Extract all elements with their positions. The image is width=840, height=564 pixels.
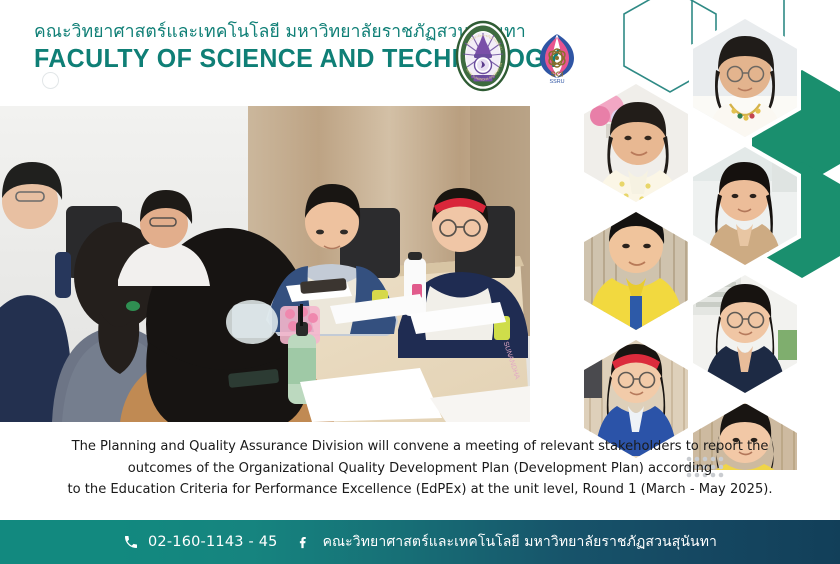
main-meeting-photo: SUAN SUNANDHA bbox=[0, 106, 530, 422]
sci-ssru-logo-icon: SCI SSRU bbox=[531, 30, 583, 88]
description-line-1: The Planning and Quality Assurance Divis… bbox=[18, 436, 822, 458]
phone-number[interactable]: 02-160-1143 - 45 bbox=[148, 534, 278, 550]
description-line-2: outcomes of the Organizational Quality D… bbox=[18, 458, 822, 480]
facebook-icon[interactable] bbox=[296, 534, 311, 551]
phone-icon bbox=[123, 534, 139, 550]
hex-tile-portrait-man-yellow-polo bbox=[580, 207, 692, 335]
hex-tile-portrait-woman-navy-glasses bbox=[689, 270, 801, 398]
facebook-page-name[interactable]: คณะวิทยาศาสตร์และเทคโนโลยี มหาวิทยาลัยรา… bbox=[323, 531, 717, 553]
svg-text:SCI: SCI bbox=[551, 70, 564, 79]
poster-canvas: คณะวิทยาศาสตร์และเทคโนโลยี มหาวิทยาลัยรา… bbox=[0, 0, 840, 564]
ssru-university-seal-icon: มหาวิทยาลัยราชภัฏสวนสุนันทา SUAN SUNANDH… bbox=[455, 20, 511, 92]
poster-header: คณะวิทยาศาสตร์และเทคโนโลยี มหาวิทยาลัยรา… bbox=[0, 0, 840, 104]
decorative-circle bbox=[42, 72, 59, 89]
svg-text:SSRU: SSRU bbox=[550, 79, 565, 85]
main-photo-illustration: SUAN SUNANDHA bbox=[0, 106, 530, 422]
contact-footer: 02-160-1143 - 45 คณะวิทยาศาสตร์และเทคโนโ… bbox=[0, 520, 840, 564]
logo-group: มหาวิทยาลัยราชภัฏสวนสุนันทา SUAN SUNANDH… bbox=[455, 20, 585, 92]
announcement-description: The Planning and Quality Assurance Divis… bbox=[0, 436, 840, 501]
description-line-3: to the Education Criteria for Performanc… bbox=[18, 479, 822, 501]
